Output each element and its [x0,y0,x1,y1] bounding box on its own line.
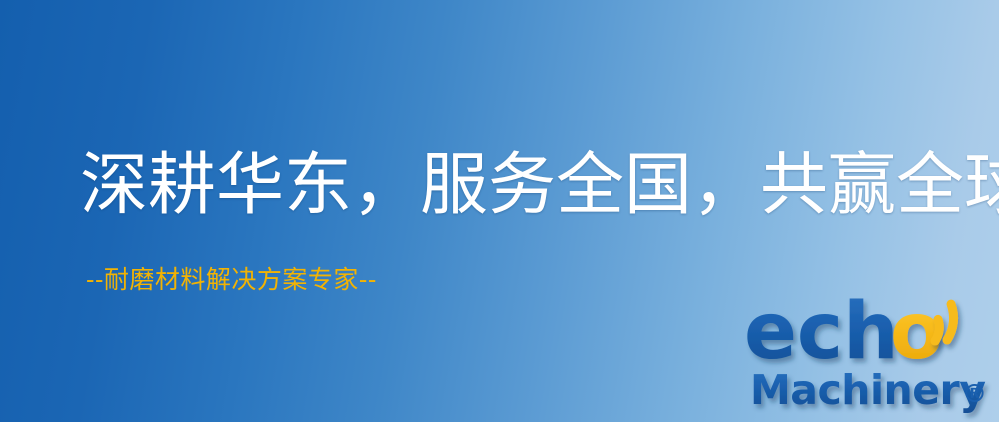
page-title: 深耕华东，服务全国，共赢全球 [80,152,999,220]
registered-trademark-icon: ® [962,379,987,408]
page-subtitle: --耐磨材料解决方案专家-- [86,267,377,292]
promotional-banner: 深耕华东，服务全国，共赢全球 --耐磨材料解决方案专家-- [0,0,999,422]
logo-machinery-glyphs: Machinery [750,366,985,414]
logo-machinery-text: Machinery [750,366,985,414]
logo-ech-text: ech [744,287,899,377]
echo-machinery-logo[interactable]: ech o Machinery ® [744,292,996,418]
logo-ech-glyphs: ech [744,287,899,377]
